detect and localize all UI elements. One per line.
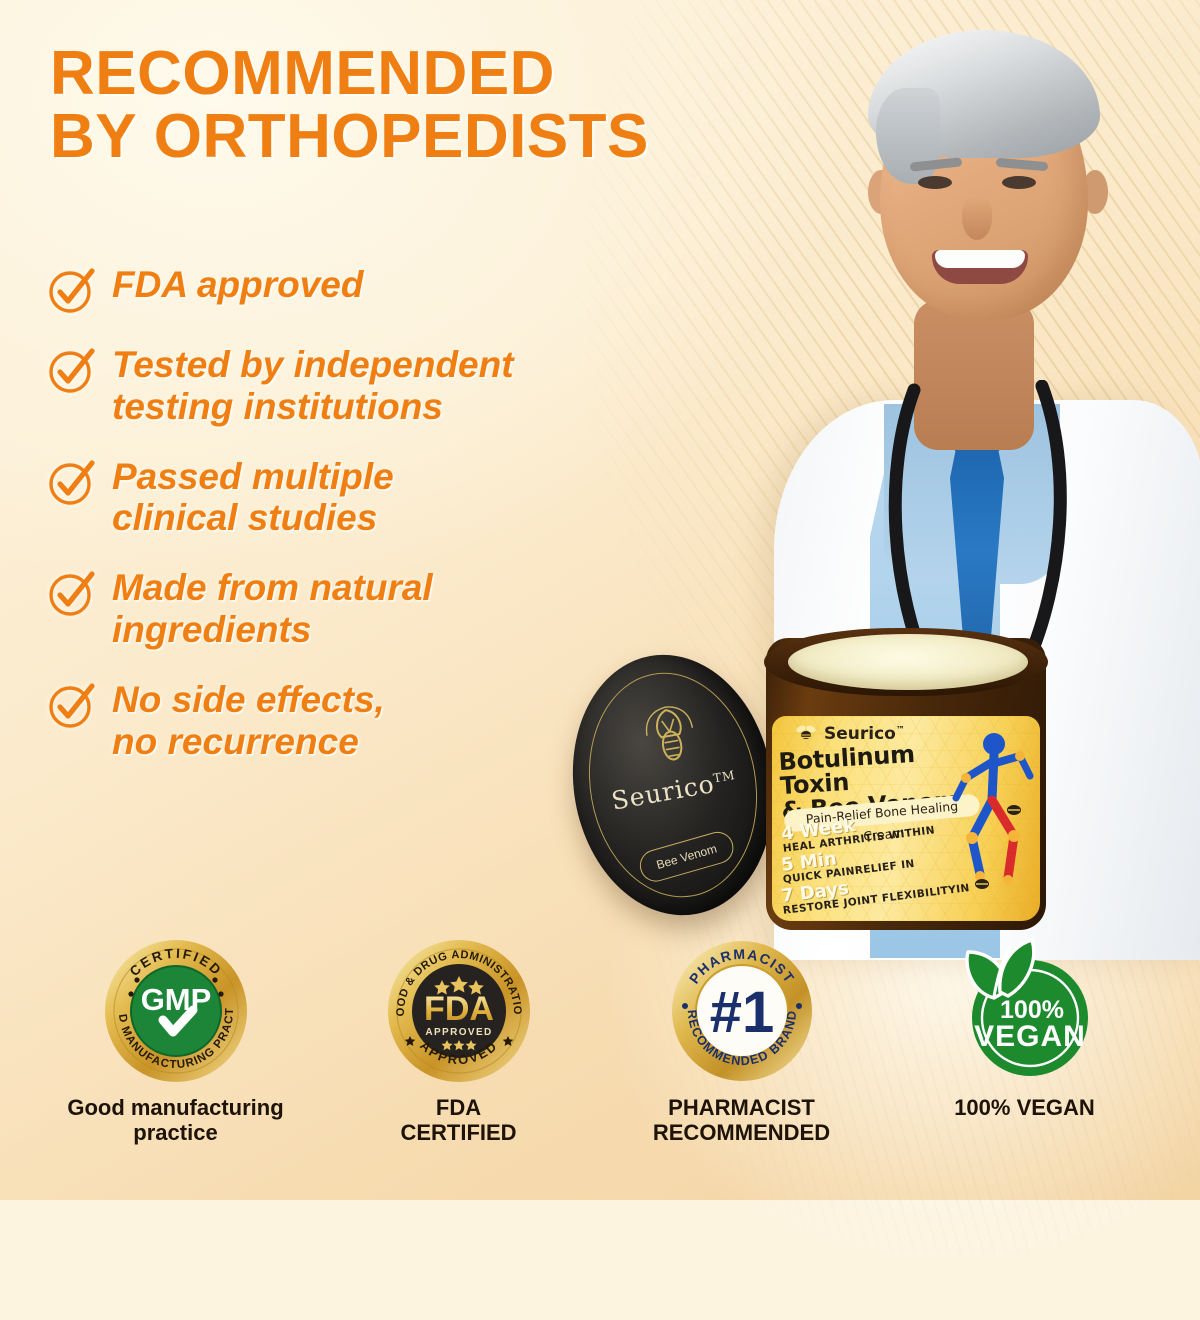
jar-cream-content bbox=[788, 634, 1028, 690]
benefit-text: Passed multiple clinical studies bbox=[112, 454, 394, 540]
list-item: FDA approved bbox=[46, 262, 686, 316]
pharmacist-recommended-badge-icon: PHARMACIST RECOMMENDED BRAND #1 bbox=[667, 936, 817, 1086]
badge-caption: 100% VEGAN bbox=[900, 1096, 1150, 1121]
check-circle-icon bbox=[46, 264, 98, 316]
vegan-center-line-2: VEGAN bbox=[974, 1020, 1086, 1053]
vegan-badge-icon: 100% VEGAN bbox=[950, 936, 1100, 1086]
headline-line-1: RECOMMENDED bbox=[50, 39, 555, 108]
bee-icon bbox=[794, 724, 818, 740]
check-circle-icon bbox=[46, 679, 98, 731]
doctor-mouth bbox=[932, 250, 1028, 284]
badge-gmp: CERTIFIED GOOD MANUFACTURING PRACTICE GM… bbox=[51, 936, 301, 1146]
badge-vegan: 100% VEGAN 100% VEGAN bbox=[900, 936, 1150, 1121]
fda-approved-badge-icon: FOOD & DRUG ADMINISTRATION APPROVED FDA … bbox=[384, 936, 534, 1086]
benefit-text: FDA approved bbox=[112, 262, 363, 306]
benefit-text: No side effects, no recurrence bbox=[112, 677, 385, 763]
pharmacist-center-text: #1 bbox=[709, 980, 774, 1045]
product-jar: Seurico™ Botulinum Toxin & Bee Venom Pai… bbox=[766, 620, 1046, 938]
doctor-teeth bbox=[935, 250, 1025, 268]
benefit-text: Tested by independent testing institutio… bbox=[112, 342, 514, 428]
list-item: Passed multiple clinical studies bbox=[46, 454, 686, 540]
list-item: Tested by independent testing institutio… bbox=[46, 342, 686, 428]
ad-canvas: RECOMMENDED BY ORTHOPEDISTS FDA approved… bbox=[0, 0, 1200, 1200]
doctor-nose bbox=[962, 196, 992, 240]
badge-caption: Good manufacturing practice bbox=[51, 1096, 301, 1146]
product-lid: SeuricoTM Bee Venom bbox=[553, 639, 793, 931]
badge-fda: FOOD & DRUG ADMINISTRATION APPROVED FDA … bbox=[334, 936, 584, 1146]
check-circle-icon bbox=[46, 344, 98, 396]
doctor-eye-right bbox=[1002, 176, 1036, 189]
certification-badges: CERTIFIED GOOD MANUFACTURING PRACTICE GM… bbox=[0, 936, 1200, 1186]
check-circle-icon bbox=[46, 456, 98, 508]
gmp-center-text: GMP bbox=[140, 982, 211, 1017]
label-trademark: ™ bbox=[896, 725, 905, 735]
running-skeleton-figure-icon bbox=[942, 728, 1038, 908]
check-circle-icon bbox=[46, 567, 98, 619]
product-label: Seurico™ Botulinum Toxin & Bee Venom Pai… bbox=[772, 716, 1040, 921]
page-title: RECOMMENDED BY ORTHOPEDISTS bbox=[50, 42, 840, 168]
doctor-hair bbox=[868, 30, 1100, 158]
product-image: SeuricoTM Bee Venom Seurico™ bbox=[560, 620, 1080, 950]
fda-center-sub-text: APPROVED bbox=[425, 1027, 492, 1038]
badge-caption: FDA CERTIFIED bbox=[334, 1096, 584, 1146]
bee-emblem-icon bbox=[632, 696, 710, 780]
headline-line-2: BY ORTHOPEDISTS bbox=[50, 105, 840, 168]
doctor-eye-left bbox=[918, 176, 952, 189]
badge-caption: PHARMACIST RECOMMENDED bbox=[617, 1096, 867, 1146]
gmp-certified-badge-icon: CERTIFIED GOOD MANUFACTURING PRACTICE GM… bbox=[101, 936, 251, 1086]
badge-pharmacist: PHARMACIST RECOMMENDED BRAND #1 PHARMACI… bbox=[617, 936, 867, 1146]
benefit-text: Made from natural ingredients bbox=[112, 565, 433, 651]
fda-center-text: FDA bbox=[424, 990, 494, 1028]
lid-trademark: TM bbox=[712, 768, 736, 786]
